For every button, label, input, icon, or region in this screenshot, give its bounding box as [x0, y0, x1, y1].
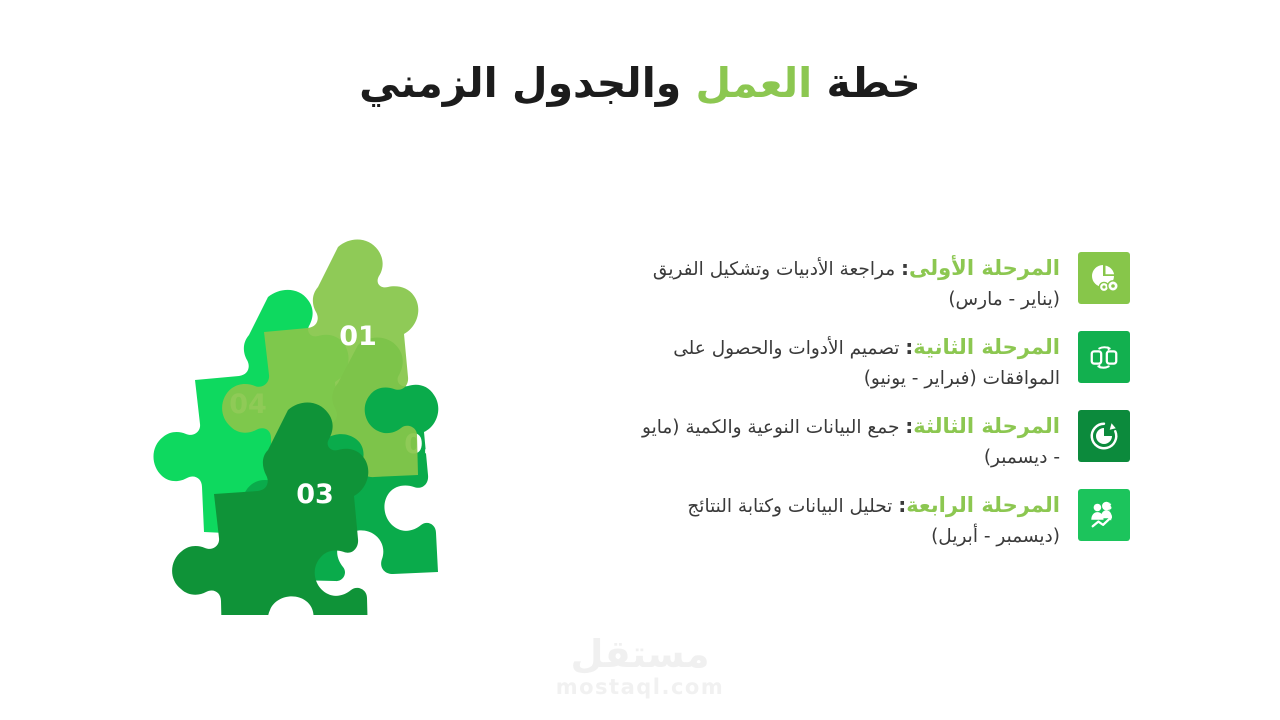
- slide-canvas: خطة العمل والجدول الزمني 04 02 01: [0, 0, 1280, 720]
- pie-chart-gears-icon: [1078, 252, 1130, 304]
- people-growth-chart-icon: $: [1078, 489, 1130, 541]
- phase-text-3: المرحلة الثالثة: جمع البيانات النوعية وا…: [630, 408, 1060, 473]
- phase-item-2[interactable]: المرحلة الثانية: تصميم الأدوات والحصول ع…: [630, 329, 1130, 394]
- watermark-latin: mostaql.com: [0, 673, 1280, 702]
- phase-item-4[interactable]: $ المرحلة الرابعة: تحليل البيانات وكتابة…: [630, 487, 1130, 552]
- sync-exchange-icon: [1078, 331, 1130, 383]
- phase-text-1: المرحلة الأولى: مراجعة الأدبيات وتشكيل ا…: [630, 250, 1060, 315]
- phase-colon-1: :: [901, 256, 909, 280]
- title-part-after: والجدول الزمني: [359, 59, 695, 107]
- watermark: مستقل mostaql.com: [0, 635, 1280, 702]
- puzzle-graphic: 04 02 01 03: [150, 235, 550, 615]
- phase-text-2: المرحلة الثانية: تصميم الأدوات والحصول ع…: [630, 329, 1060, 394]
- title-part-before: خطة: [812, 59, 921, 107]
- phase-label-1: المرحلة الأولى: [909, 256, 1060, 280]
- watermark-arabic: مستقل: [0, 635, 1280, 673]
- puzzle-piece-03-number: 03: [296, 479, 334, 510]
- phase-label-2: المرحلة الثانية: [913, 335, 1060, 359]
- phase-item-3[interactable]: المرحلة الثالثة: جمع البيانات النوعية وا…: [630, 408, 1130, 473]
- phase-item-1[interactable]: المرحلة الأولى: مراجعة الأدبيات وتشكيل ا…: [630, 250, 1130, 315]
- phase-list: المرحلة الأولى: مراجعة الأدبيات وتشكيل ا…: [630, 250, 1130, 566]
- phase-label-4: المرحلة الرابعة: [906, 493, 1060, 517]
- puzzle-svg: 04 02 01 03: [150, 235, 550, 615]
- phase-colon-4: :: [898, 493, 906, 517]
- puzzle-piece-01-number: 01: [339, 321, 377, 352]
- phase-text-4: المرحلة الرابعة: تحليل البيانات وكتابة ا…: [630, 487, 1060, 552]
- circular-progress-icon: [1078, 410, 1130, 462]
- page-title: خطة العمل والجدول الزمني: [0, 58, 1280, 109]
- phase-label-3: المرحلة الثالثة: [913, 414, 1060, 438]
- svg-text:$: $: [1106, 501, 1112, 511]
- title-highlight: العمل: [696, 59, 813, 107]
